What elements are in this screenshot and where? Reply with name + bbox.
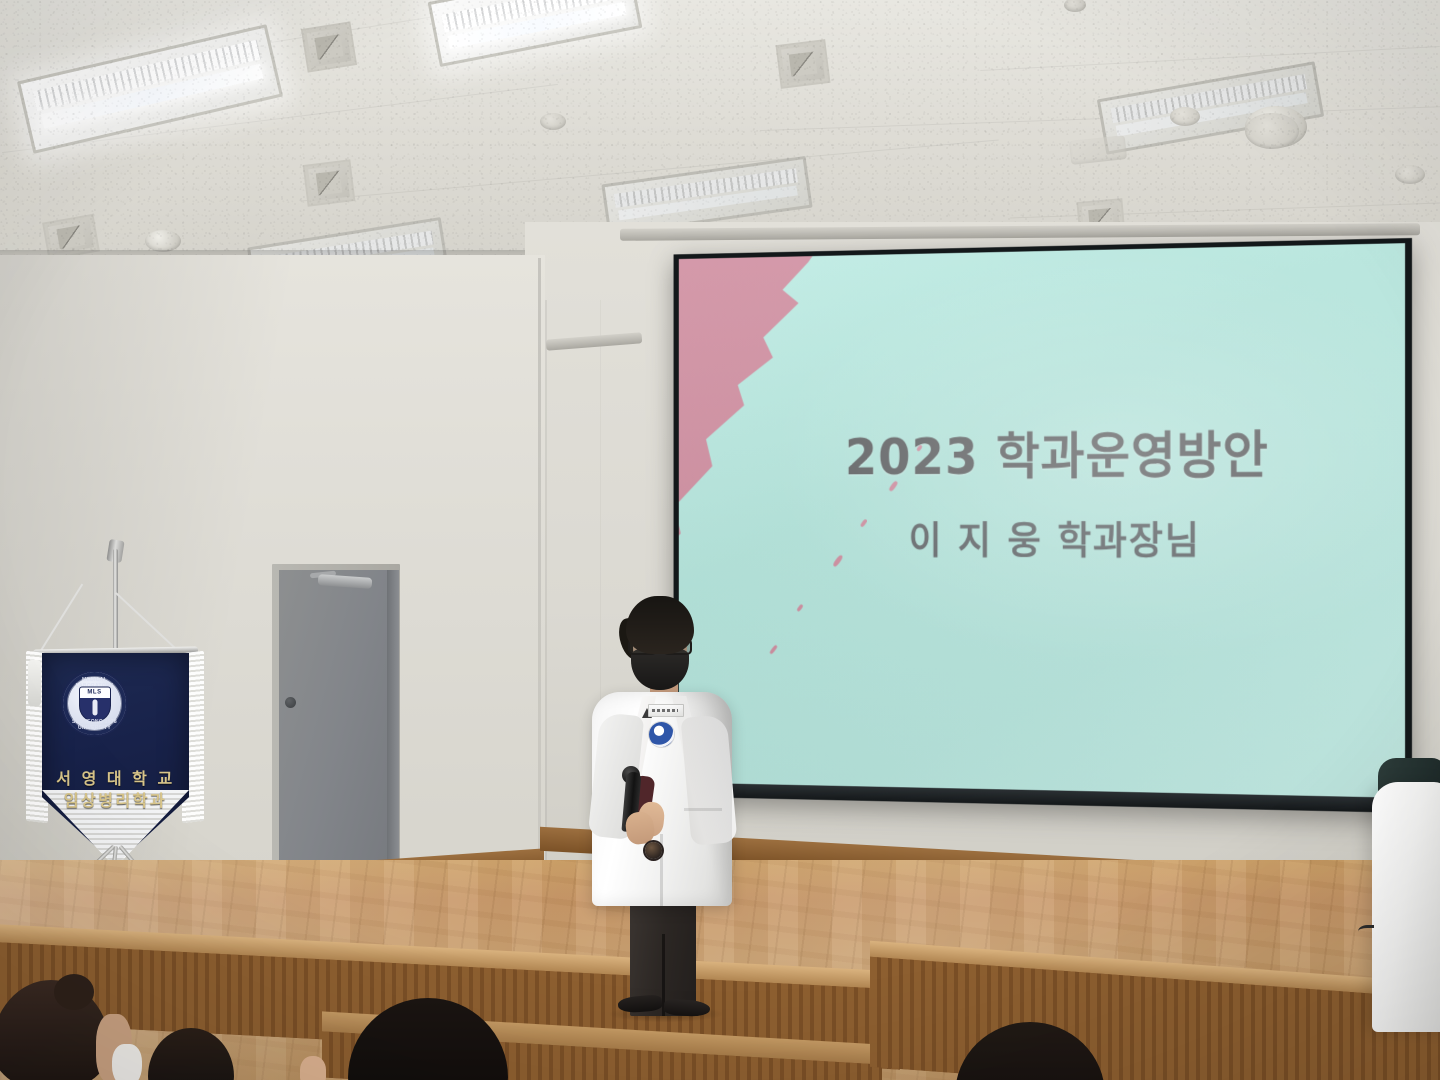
- door-panel[interactable]: [279, 570, 387, 864]
- presenter-hair: [626, 596, 694, 654]
- ceiling-smoke-detector: [1170, 107, 1200, 126]
- presentation-slide: 2023 학과운영방안 이 지 웅 학과장님: [679, 243, 1405, 799]
- banner-text-line1: 서 영 대 학 교: [42, 765, 189, 789]
- air-purifier[interactable]: [1372, 782, 1440, 1032]
- audience-hair-bun: [54, 974, 94, 1010]
- ceiling-downlight: [1245, 113, 1299, 149]
- ceiling-speaker: [1245, 106, 1307, 148]
- emblem-figure: [92, 700, 97, 716]
- lecture-hall-photo: 2023 학과운영방안 이 지 웅 학과장님 MEDICAL LABORATOR…: [0, 0, 1440, 1080]
- ceiling-air-diffuser: [303, 159, 356, 207]
- ceiling-downlight: [145, 230, 181, 252]
- presenter-wristwatch: [645, 842, 662, 859]
- projection-screen: 2023 학과운영방안 이 지 웅 학과장님: [674, 238, 1412, 813]
- door-knob-icon[interactable]: [285, 697, 296, 708]
- slide-subtitle: 이 지 웅 학과장님: [679, 510, 1405, 566]
- ceiling-light-fixture: [17, 24, 283, 154]
- air-purifier-cable: [1358, 925, 1374, 936]
- emblem-ring-bottom-text: SEOYEONG 1978 UNIVERSITY: [63, 719, 126, 731]
- screen-surface: 2023 학과운영방안 이 지 웅 학과장님: [679, 243, 1405, 799]
- emblem-shield: MLS: [79, 686, 111, 721]
- audience-face-mask: [112, 1044, 142, 1080]
- banner-tassel: [28, 660, 41, 706]
- wall-corner: [538, 258, 541, 918]
- emblem-center-text: MLS: [80, 687, 110, 698]
- ceiling-light-fixture: [1097, 61, 1324, 155]
- university-emblem: MEDICAL LABORATORY SCIENCE MLS SEOYEONG …: [63, 672, 126, 735]
- ceiling-air-diffuser: [776, 39, 831, 89]
- audience-head: [0, 980, 110, 1080]
- ceiling-sprinkler: [1064, 0, 1086, 12]
- presenter: [586, 596, 736, 1016]
- presenter-coat-pocket: [684, 808, 722, 811]
- ceiling-air-diffuser: [301, 21, 357, 72]
- ceiling-access-panel: [1069, 135, 1127, 165]
- coat-emblem-icon: [649, 722, 674, 747]
- ceiling-downlight: [1395, 165, 1425, 184]
- door-edge: [387, 570, 399, 864]
- ceiling-light-fixture: [428, 0, 643, 67]
- slide-title: 2023 학과운영방안: [679, 413, 1405, 489]
- banner-text-line2: 임상병리학과: [42, 787, 189, 811]
- audience-hand: [300, 1056, 326, 1080]
- ceiling-downlight: [540, 113, 566, 130]
- presenter-name-tag: [648, 704, 684, 717]
